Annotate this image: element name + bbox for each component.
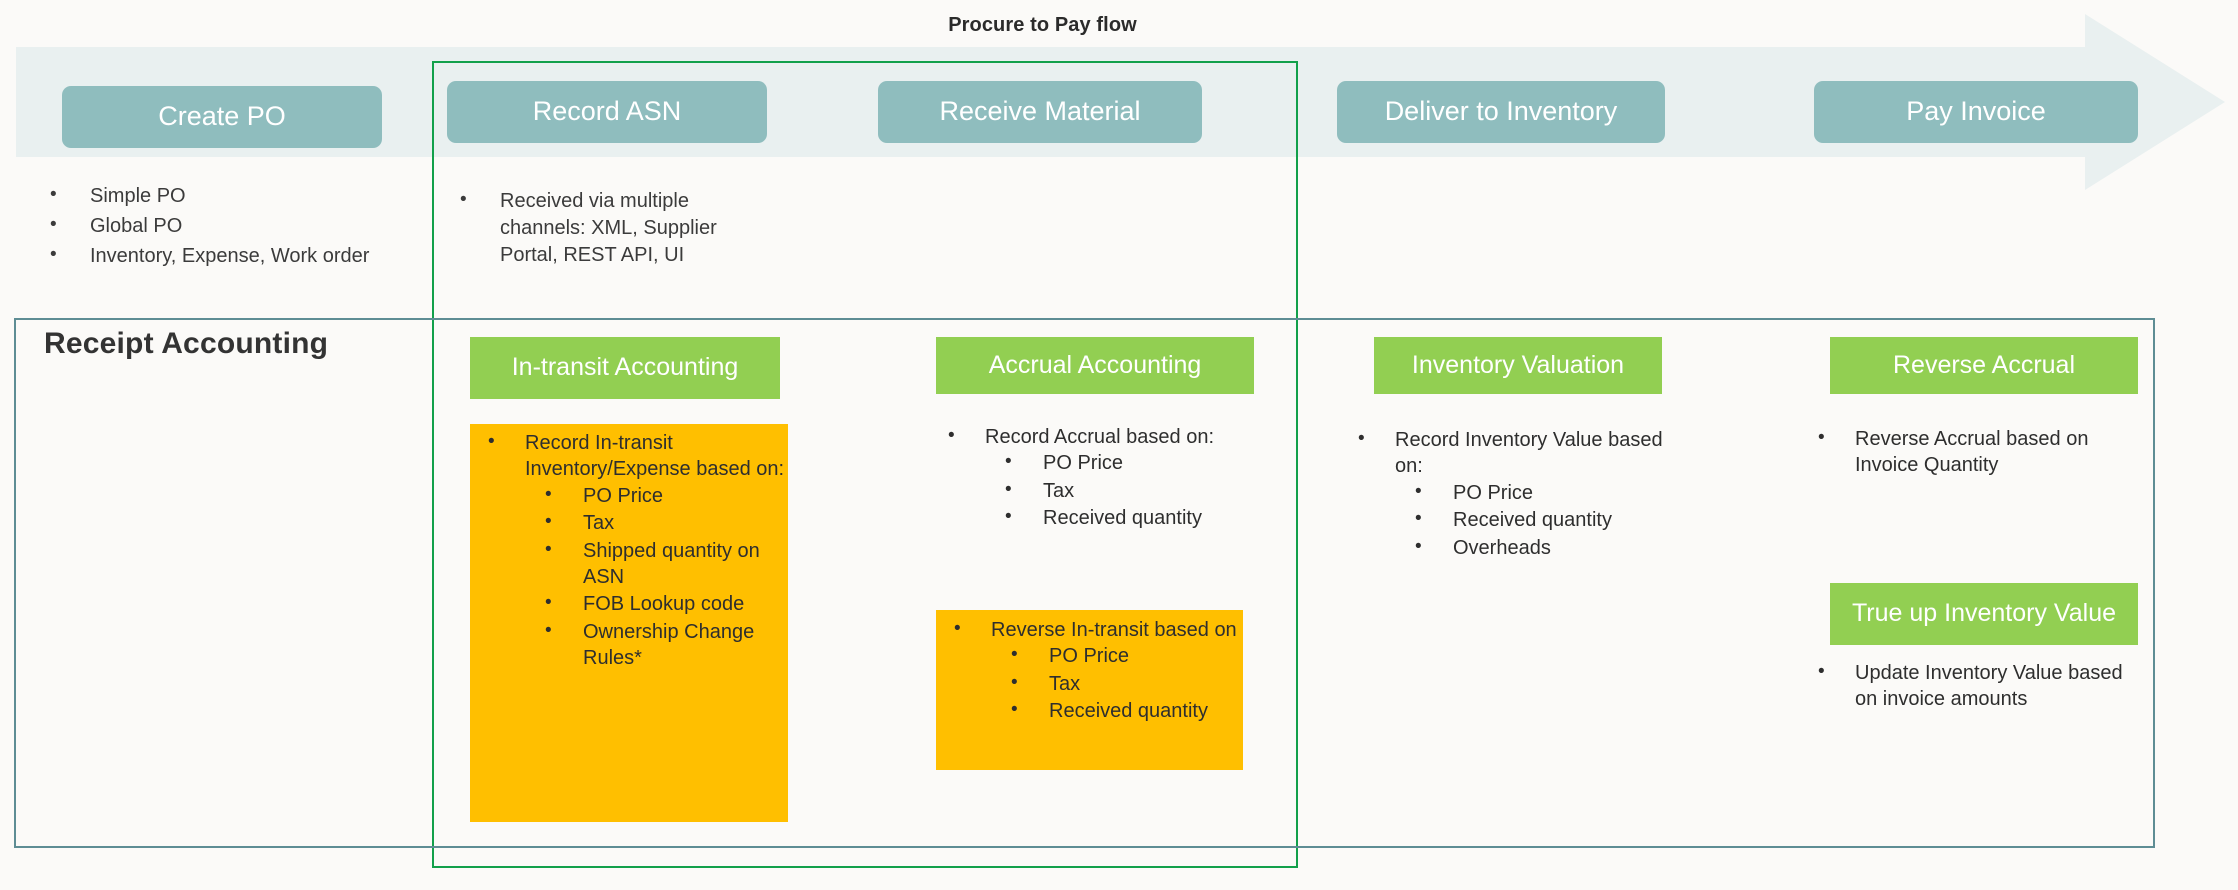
header-true-up-inventory-value: True up Inventory Value xyxy=(1830,583,2138,645)
sub-list-item: PO Price xyxy=(1395,480,1670,506)
sub-list-item: Received quantity xyxy=(985,505,1250,531)
list-item: Record Accrual based on: PO Price Tax Re… xyxy=(930,424,1250,532)
header-accrual-accounting: Accrual Accounting xyxy=(936,337,1254,394)
step-chip-receive-material[interactable]: Receive Material xyxy=(878,81,1202,143)
list-in-transit: Record In-transit Inventory/Expense base… xyxy=(470,430,788,673)
header-in-transit-accounting: In-transit Accounting xyxy=(470,337,780,399)
step-chip-pay-invoice[interactable]: Pay Invoice xyxy=(1814,81,2138,143)
header-inventory-valuation: Inventory Valuation xyxy=(1374,337,1662,394)
sub-list-item: Overheads xyxy=(1395,535,1670,561)
list-item: Simple PO xyxy=(30,183,410,210)
list-item-text: Record In-transit Inventory/Expense base… xyxy=(525,432,784,480)
list-reverse-accrual: Reverse Accrual based on Invoice Quantit… xyxy=(1800,426,2130,480)
list-item: Global PO xyxy=(30,213,410,240)
note-create-po: Simple PO Global PO Inventory, Expense, … xyxy=(30,183,410,273)
list-true-up: Update Inventory Value based on invoice … xyxy=(1800,660,2130,714)
diagram-canvas: Procure to Pay flow Create PO Record ASN… xyxy=(0,0,2238,890)
list-item: Record Inventory Value based on: PO Pric… xyxy=(1340,427,1670,561)
sub-list-item: Tax xyxy=(525,510,788,536)
sub-list-item: Shipped quantity on ASN xyxy=(525,538,788,591)
list-accrual: Record Accrual based on: PO Price Tax Re… xyxy=(930,424,1250,533)
sub-list-item: PO Price xyxy=(525,483,788,509)
sub-list-item: PO Price xyxy=(991,643,1246,669)
list-item: Update Inventory Value based on invoice … xyxy=(1800,660,2130,713)
sub-list-item: Tax xyxy=(991,671,1246,697)
list-item: Reverse Accrual based on Invoice Quantit… xyxy=(1800,426,2130,479)
list-reverse-in-transit: Reverse In-transit based on PO Price Tax… xyxy=(936,617,1246,726)
page-title: Procure to Pay flow xyxy=(0,14,2085,37)
list-item: Received via multiple channels: XML, Sup… xyxy=(440,188,780,269)
sub-list-item: Received quantity xyxy=(991,698,1246,724)
step-chip-create-po[interactable]: Create PO xyxy=(62,86,382,148)
list-item: Record In-transit Inventory/Expense base… xyxy=(470,430,788,672)
step-chip-record-asn[interactable]: Record ASN xyxy=(447,81,767,143)
header-reverse-accrual: Reverse Accrual xyxy=(1830,337,2138,394)
list-item-text: Record Inventory Value based on: xyxy=(1395,429,1663,477)
sub-list-item: Tax xyxy=(985,478,1250,504)
list-item-text: Record Accrual based on: xyxy=(985,426,1214,448)
list-item: Reverse In-transit based on PO Price Tax… xyxy=(936,617,1246,725)
step-chip-deliver-to-inventory[interactable]: Deliver to Inventory xyxy=(1337,81,1665,143)
note-record-asn: Received via multiple channels: XML, Sup… xyxy=(440,188,780,272)
sub-list-item: Received quantity xyxy=(1395,507,1670,533)
receipt-accounting-title: Receipt Accounting xyxy=(44,327,328,361)
list-item-text: Reverse In-transit based on xyxy=(991,619,1237,641)
sub-list-item: FOB Lookup code xyxy=(525,591,788,617)
sub-list-item: PO Price xyxy=(985,450,1250,476)
list-item: Inventory, Expense, Work order xyxy=(30,243,410,270)
sub-list-item: Ownership Change Rules* xyxy=(525,619,788,672)
list-inventory-valuation: Record Inventory Value based on: PO Pric… xyxy=(1340,427,1670,562)
